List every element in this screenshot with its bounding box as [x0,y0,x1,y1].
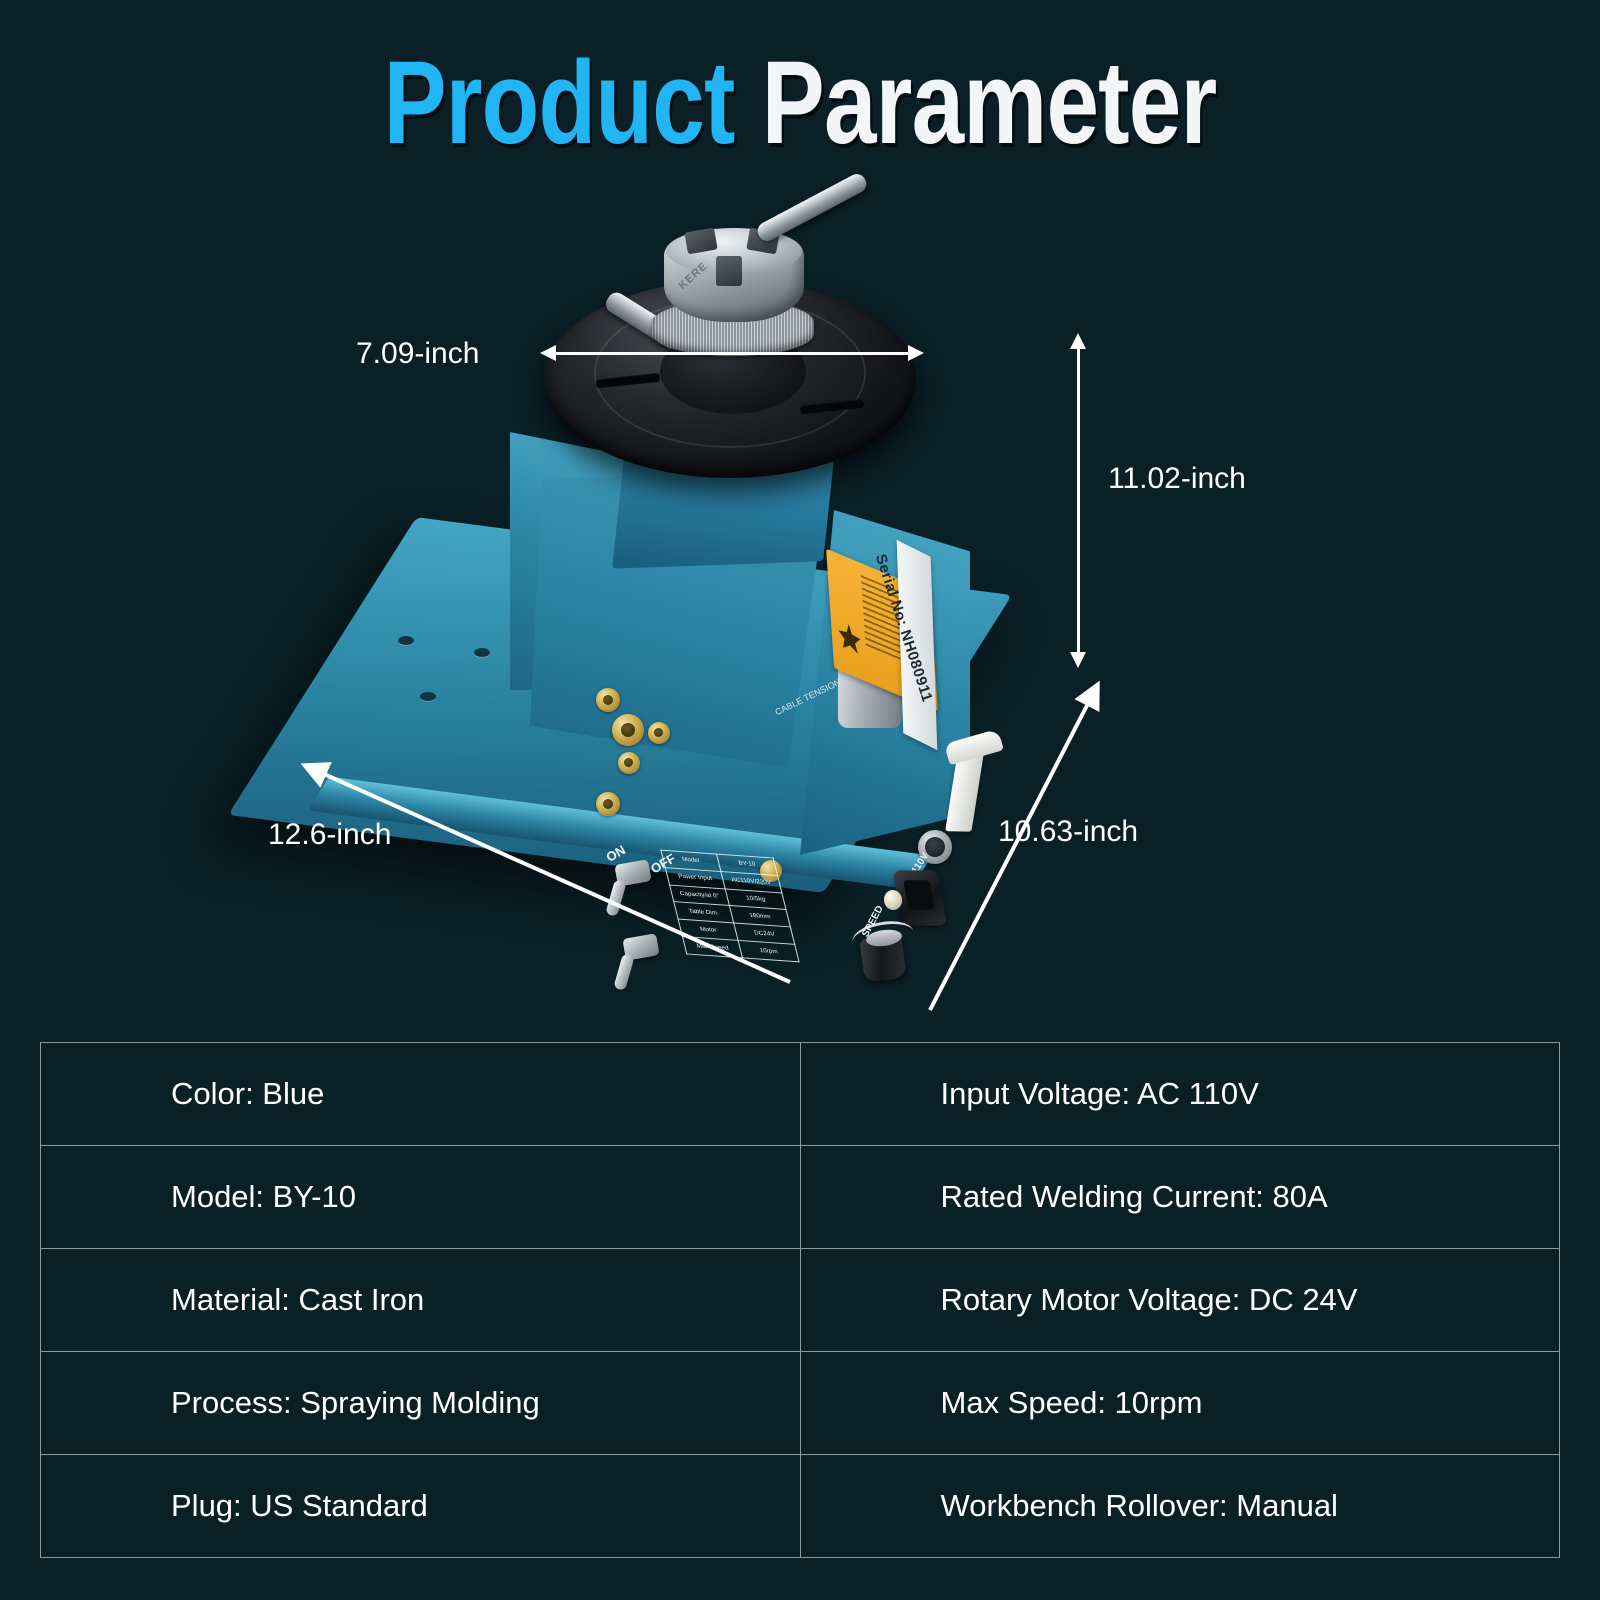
depth-side-dimension-label: 10.63-inch [998,815,1138,849]
tommy-bar [755,171,870,244]
product-photo: KERE Serial No: NH080911 CABLE TENSION O… [0,180,1600,1035]
toggle-switch-power-lever[interactable] [605,879,626,917]
cable-gland-bore [603,799,613,809]
spec-cell-left: Plug: US Standard [41,1455,801,1558]
table-row: Material: Cast Iron Rotary Motor Voltage… [41,1249,1560,1352]
height-dimension-label: 11.02-inch [1108,462,1246,496]
bolt-hole [474,648,490,657]
spec-cell-right: Rated Welding Current: 80A [800,1146,1560,1249]
spec-cell-right: Workbench Rollover: Manual [800,1455,1560,1558]
table-row: Plug: US Standard Workbench Rollover: Ma… [41,1455,1560,1558]
width-dimension-label: 7.09-inch [356,337,479,371]
title-word-product: Product [384,37,735,169]
depth-front-dimension-label: 12.6-inch [268,818,391,852]
ac-power-socket-bore [903,880,935,910]
table-row: Color: Blue Input Voltage: AC 110V [41,1043,1560,1146]
table-row: Model: BY-10 Rated Welding Current: 80A [41,1146,1560,1249]
cable-gland-bore [624,758,633,767]
spec-cell-left: Model: BY-10 [41,1146,801,1249]
chuck-jaw [716,256,742,286]
bolt-hole [398,636,414,645]
toggle-switch-direction-lever[interactable] [613,953,634,991]
spec-cell-left: Color: Blue [41,1043,801,1146]
height-arrow-up [1070,333,1086,349]
width-arrow-left [540,345,556,361]
cable-gland-bore [654,728,663,737]
bolt-hole [420,692,436,701]
spec-cell-left: Material: Cast Iron [41,1249,801,1352]
spec-cell-right: Rotary Motor Voltage: DC 24V [800,1249,1560,1352]
cable-gland-bore [621,723,635,737]
spec-cell-right: Input Voltage: AC 110V [800,1043,1560,1146]
specification-table: Color: Blue Input Voltage: AC 110V Model… [40,1042,1560,1558]
width-dimension-line [546,352,914,355]
nameplate-value: 10rpm [738,941,799,962]
title-word-parameter: Parameter [762,37,1217,169]
table-row: Process: Spraying Molding Max Speed: 10r… [41,1352,1560,1455]
page-title: ProductParameter [160,44,1440,162]
height-dimension-line [1077,345,1080,655]
height-arrow-down [1070,652,1086,668]
cable-gland-bore [603,695,613,705]
nameplate-key: Max Speed [683,937,743,958]
spec-cell-left: Process: Spraying Molding [41,1352,801,1455]
spec-cell-right: Max Speed: 10rpm [800,1352,1560,1455]
width-arrow-right [908,345,924,361]
warning-hand-icon [838,619,862,655]
